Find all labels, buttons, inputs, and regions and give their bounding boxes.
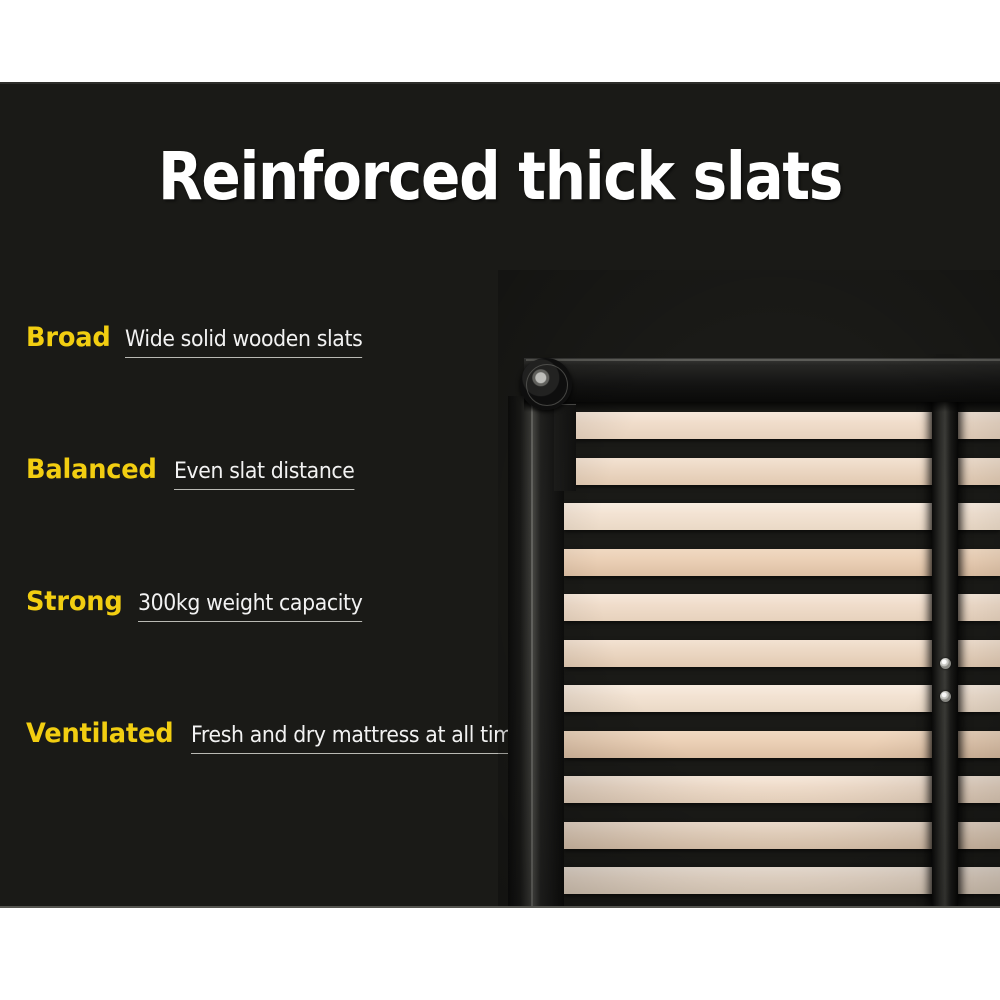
wooden-slat bbox=[564, 685, 934, 712]
page-title: Reinforced thick slats bbox=[60, 138, 940, 215]
wooden-slat bbox=[564, 412, 934, 439]
bed-frame-photo bbox=[498, 270, 1000, 908]
wooden-slat bbox=[954, 458, 1000, 485]
screw-upper-icon bbox=[940, 658, 951, 669]
wooden-slat bbox=[564, 503, 934, 530]
feature-value-balanced: Even slat distance bbox=[174, 459, 355, 490]
wooden-slat bbox=[564, 640, 934, 667]
dark-content-panel: Reinforced thick slats Broad Wide solid … bbox=[0, 82, 1000, 908]
feature-value-broad: Wide solid wooden slats bbox=[125, 327, 362, 358]
feature-key-strong: Strong bbox=[26, 586, 122, 617]
wooden-slat bbox=[954, 822, 1000, 849]
wooden-slat bbox=[564, 776, 934, 803]
corner-bracket bbox=[554, 404, 576, 491]
top-frame-rail-highlight bbox=[526, 359, 1000, 361]
feature-value-ventilated: Fresh and dry mattress at all times bbox=[191, 723, 535, 754]
corner-knob-rim bbox=[526, 364, 568, 406]
wooden-slat bbox=[954, 731, 1000, 758]
center-support-rail bbox=[932, 366, 958, 908]
promo-image: Reinforced thick slats Broad Wide solid … bbox=[0, 0, 1000, 1000]
feature-item-strong: Strong 300kg weight capacity bbox=[0, 586, 540, 718]
feature-key-broad: Broad bbox=[26, 322, 111, 353]
wooden-slat bbox=[564, 867, 934, 894]
wooden-slat bbox=[564, 822, 934, 849]
top-frame-rail bbox=[524, 358, 1000, 402]
wooden-slat bbox=[954, 776, 1000, 803]
panel-bottom-edge bbox=[0, 906, 1000, 908]
feature-key-balanced: Balanced bbox=[26, 454, 157, 485]
wooden-slat bbox=[954, 412, 1000, 439]
wooden-slat bbox=[564, 458, 934, 485]
wooden-slat bbox=[564, 549, 934, 576]
wooden-slat bbox=[954, 503, 1000, 530]
screw-lower-icon bbox=[940, 691, 951, 702]
wooden-slat bbox=[564, 731, 934, 758]
feature-item-broad: Broad Wide solid wooden slats bbox=[0, 322, 540, 454]
feature-value-strong: 300kg weight capacity bbox=[138, 591, 362, 622]
feature-item-balanced: Balanced Even slat distance bbox=[0, 454, 540, 586]
feature-item-ventilated: Ventilated Fresh and dry mattress at all… bbox=[0, 718, 540, 850]
wooden-slat bbox=[954, 594, 1000, 621]
top-frame-rail-shadow bbox=[524, 402, 1000, 412]
panel-top-edge bbox=[0, 82, 1000, 84]
slat-group-left bbox=[564, 412, 934, 908]
wooden-slat bbox=[954, 685, 1000, 712]
left-frame-rail-highlight bbox=[531, 396, 533, 908]
wooden-slat bbox=[954, 867, 1000, 894]
wooden-slat bbox=[954, 640, 1000, 667]
wooden-slat bbox=[564, 594, 934, 621]
slat-group-right bbox=[954, 412, 1000, 908]
feature-list: Broad Wide solid wooden slats Balanced E… bbox=[0, 322, 540, 850]
wooden-slat bbox=[954, 549, 1000, 576]
feature-key-ventilated: Ventilated bbox=[26, 718, 173, 749]
